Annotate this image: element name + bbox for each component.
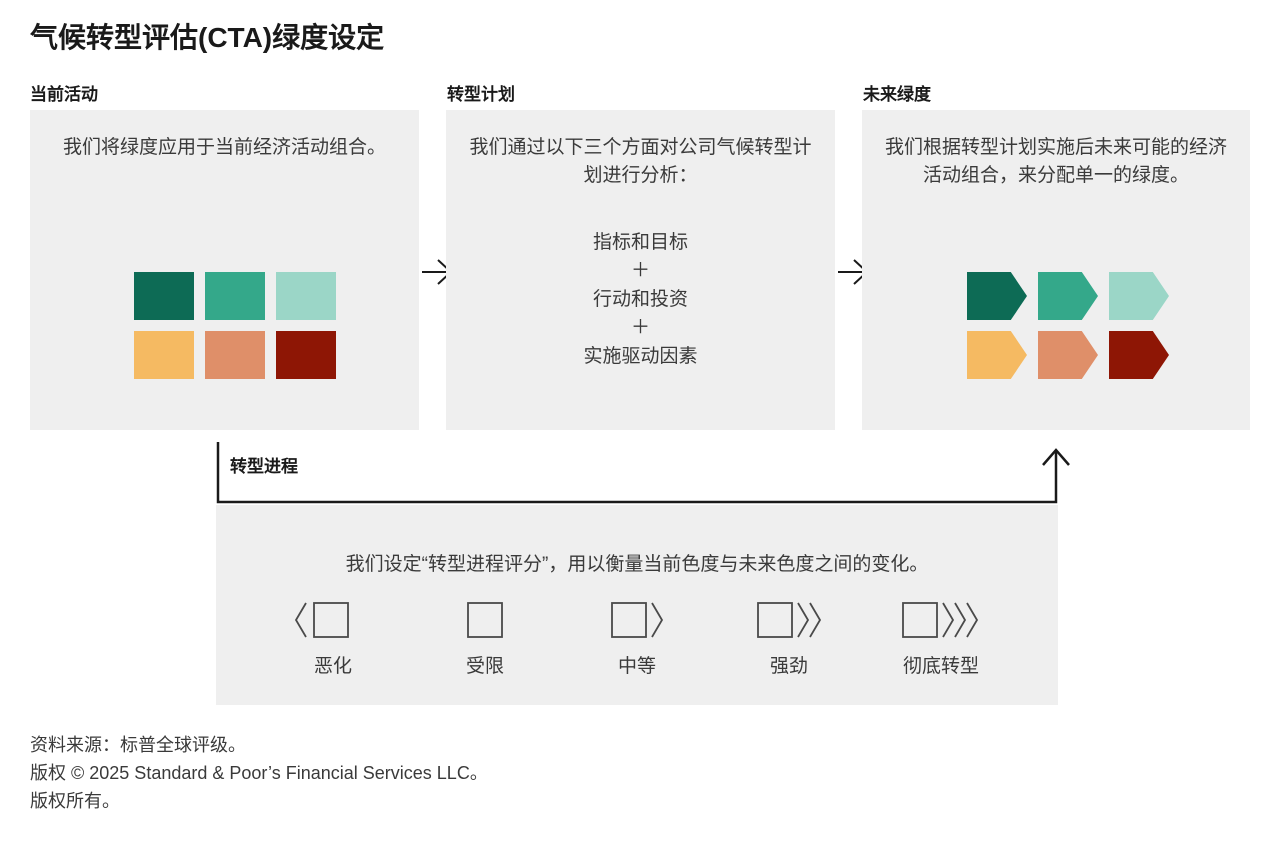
footer-source-copyright: 资料来源：标普全球评级。 版权 © 2025 Standard & Poor’s… [30,732,488,816]
score-item-constrained: 受限 [410,597,560,678]
swatch-arrow-amber [967,331,1027,379]
swatch-amber [134,331,194,379]
footer-line-source: 资料来源：标普全球评级。 [30,732,488,760]
swatch-grid-current [134,272,336,379]
score-label-moderate: 中等 [618,651,656,678]
transition-progress-description: 我们设定“转型进程评分”，用以衡量当前色度与未来色度之间的变化。 [216,549,1058,576]
swatch-grid-future [967,272,1169,379]
score-glyph-left-chevron-square-icon [290,597,376,643]
panel-transition-plan: 我们通过以下三个方面对公司气候转型计划进行分析： 指标和目标 ＋ 行动和投资 ＋… [446,110,835,430]
component-actions-investments: 行动和投资 [446,285,835,314]
score-glyph-square-two-chevrons-icon [746,597,832,643]
score-glyph-square-three-chevrons-icon [893,597,989,643]
score-item-strong: 强劲 [714,597,864,678]
plus-sign-icon-1: ＋ [446,257,835,285]
transition-progress-score-row: 恶化 受限 中等 [258,597,1016,678]
swatch-arrow-light-green [1109,272,1169,320]
transition-progress-bracket [210,440,1070,512]
swatch-medium-green [205,272,265,320]
plus-sign-icon-2: ＋ [446,314,835,342]
column-heading-current-activity: 当前活动 [30,80,98,105]
score-label-strong: 强劲 [770,651,808,678]
transition-plan-components: 指标和目标 ＋ 行动和投资 ＋ 实施驱动因素 [446,228,835,371]
swatch-arrow-medium-green [1038,272,1098,320]
score-label-constrained: 受限 [466,651,504,678]
column-heading-future-shade: 未来绿度 [863,80,931,105]
swatch-salmon [205,331,265,379]
score-label-transformational: 彻底转型 [903,651,979,678]
swatch-dark-green [134,272,194,320]
footer-line-copyright: 版权 © 2025 Standard & Poor’s Financial Se… [30,760,488,788]
panel-current-activity: 我们将绿度应用于当前经济活动组合。 [30,110,419,430]
footer-line-rights: 版权所有。 [30,788,488,816]
swatch-arrow-dark-green [967,272,1027,320]
column-heading-transition-plan: 转型计划 [447,80,515,105]
panel-current-activity-text: 我们将绿度应用于当前经济活动组合。 [30,134,419,162]
panel-future-shade: 我们根据转型计划实施后未来可能的经济活动组合，来分配单一的绿度。 [862,110,1250,430]
swatch-dark-red [276,331,336,379]
swatch-arrow-salmon [1038,331,1098,379]
score-label-deteriorating: 恶化 [314,651,352,678]
score-item-transformational: 彻底转型 [866,597,1016,678]
score-glyph-square-icon [442,597,528,643]
page-title: 气候转型评估(CTA)绿度设定 [30,16,384,56]
component-implementation-drivers: 实施驱动因素 [446,342,835,371]
score-glyph-square-one-chevron-icon [594,597,680,643]
score-item-deteriorating: 恶化 [258,597,408,678]
swatch-light-green [276,272,336,320]
panel-transition-progress: 我们设定“转型进程评分”，用以衡量当前色度与未来色度之间的变化。 恶化 受限 [216,505,1058,705]
transition-progress-label: 转型进程 [230,452,304,477]
component-metrics-targets: 指标和目标 [446,228,835,257]
swatch-arrow-dark-red [1109,331,1169,379]
score-item-moderate: 中等 [562,597,712,678]
panel-future-shade-text: 我们根据转型计划实施后未来可能的经济活动组合，来分配单一的绿度。 [862,134,1250,189]
panel-transition-plan-text: 我们通过以下三个方面对公司气候转型计划进行分析： [446,134,835,189]
